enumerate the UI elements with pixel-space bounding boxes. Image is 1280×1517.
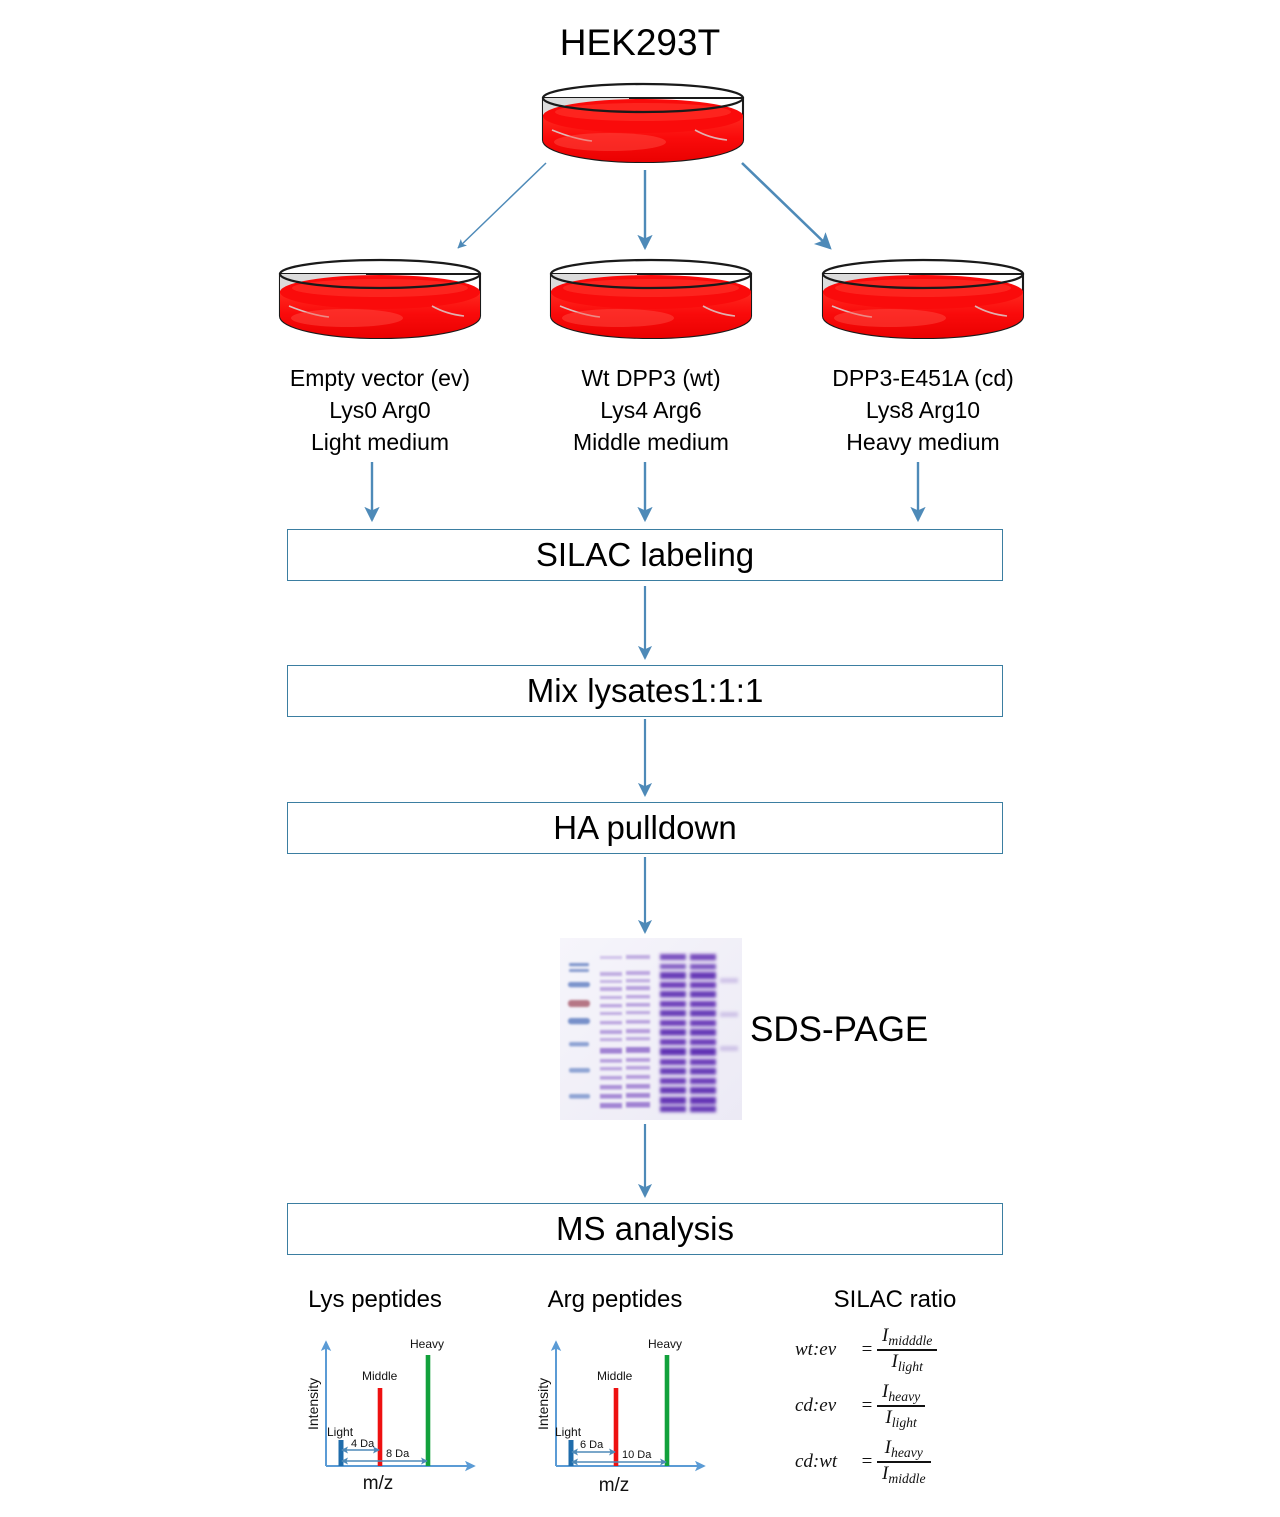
dish-caption-dpp3-e451a: DPP3-E451A (cd) Lys8 Arg10 Heavy medium <box>783 362 1063 458</box>
dish-caption-wt-dpp3: Wt DPP3 (wt) Lys4 Arg6 Middle medium <box>511 362 791 458</box>
condition-name: DPP3-E451A (cd) <box>783 362 1063 394</box>
formula-fraction: Imidddle Ilight <box>877 1326 937 1374</box>
formula-lhs: cd:ev <box>795 1395 857 1417</box>
formula-equals: = <box>857 1395 877 1417</box>
condition-name: Empty vector (ev) <box>240 362 520 394</box>
formula-row-wt-ev: wt:ev = Imidddle Ilight <box>795 1322 1005 1378</box>
sds-page-label: SDS-PAGE <box>750 1010 928 1050</box>
formula-denominator: Ilight <box>880 1407 921 1430</box>
petri-dish-wt-dpp3 <box>548 258 754 346</box>
condition-name: Wt DPP3 (wt) <box>511 362 791 394</box>
petri-dish-empty-vector <box>277 258 483 346</box>
process-box-label: MS analysis <box>556 1210 734 1248</box>
delta-label-10da: 10 Da <box>622 1449 652 1461</box>
petri-dish-dpp3-e451a <box>820 258 1026 346</box>
condition-medium: Heavy medium <box>783 426 1063 458</box>
process-box-label: HA pulldown <box>553 809 736 847</box>
peak-label-middle: Middle <box>362 1369 398 1383</box>
y-axis-label: Intensity <box>305 1378 321 1430</box>
process-box-label: Mix lysates1:1:1 <box>527 672 764 710</box>
process-box-label: SILAC labeling <box>536 536 754 574</box>
formula-denominator: Imiddle <box>877 1463 931 1486</box>
process-box-silac-labeling[interactable]: SILAC labeling <box>287 529 1003 581</box>
formula-equals: = <box>857 1451 877 1473</box>
sds-page-gel-image <box>560 938 742 1120</box>
spectrum-arg-peptides: Light Middle Heavy 6 Da 10 Da Intensity … <box>526 1326 716 1517</box>
peak-label-light: Light <box>555 1425 582 1439</box>
x-axis-label: m/z <box>363 1473 394 1494</box>
formula-fraction: Iheavy Imiddle <box>877 1438 931 1486</box>
peak-label-middle: Middle <box>597 1369 633 1383</box>
formula-row-cd-ev: cd:ev = Iheavy Ilight <box>795 1378 1005 1434</box>
panel-title-arg-peptides: Arg peptides <box>470 1286 760 1314</box>
formula-fraction: Iheavy Ilight <box>877 1382 925 1430</box>
condition-medium: Middle medium <box>511 426 791 458</box>
formula-numerator: Imidddle <box>877 1326 937 1349</box>
process-box-ms-analysis[interactable]: MS analysis <box>287 1203 1003 1255</box>
process-box-mix-lysates[interactable]: Mix lysates1:1:1 <box>287 665 1003 717</box>
silac-ratio-formulas: wt:ev = Imidddle Ilight cd:ev = Iheavy I… <box>795 1322 1005 1490</box>
x-axis-label: m/z <box>599 1475 630 1496</box>
spectrum-lys-peptides: Light Middle Heavy 4 Da 8 Da Intensity m… <box>296 1326 486 1517</box>
workflow-diagram: HEK293T <box>0 0 1280 1512</box>
process-box-ha-pulldown[interactable]: HA pulldown <box>287 802 1003 854</box>
peak-label-heavy: Heavy <box>410 1337 444 1351</box>
peak-label-light: Light <box>327 1425 354 1439</box>
formula-row-cd-wt: cd:wt = Iheavy Imiddle <box>795 1434 1005 1490</box>
formula-lhs: cd:wt <box>795 1451 857 1473</box>
delta-label-8da: 8 Da <box>386 1448 410 1460</box>
condition-label: Lys8 Arg10 <box>783 394 1063 426</box>
dish-caption-empty-vector: Empty vector (ev) Lys0 Arg0 Light medium <box>240 362 520 458</box>
panel-title-silac-ratio: SILAC ratio <box>790 1286 1000 1314</box>
formula-equals: = <box>857 1339 877 1361</box>
formula-numerator: Iheavy <box>880 1438 928 1461</box>
delta-label-6da: 6 Da <box>580 1439 604 1451</box>
formula-denominator: Ilight <box>886 1351 927 1374</box>
peak-label-heavy: Heavy <box>648 1337 682 1351</box>
formula-lhs: wt:ev <box>795 1339 857 1361</box>
condition-medium: Light medium <box>240 426 520 458</box>
delta-label-4da: 4 Da <box>351 1438 375 1450</box>
y-axis-label: Intensity <box>535 1378 551 1430</box>
condition-label: Lys4 Arg6 <box>511 394 791 426</box>
formula-numerator: Iheavy <box>877 1382 925 1405</box>
condition-label: Lys0 Arg0 <box>240 394 520 426</box>
